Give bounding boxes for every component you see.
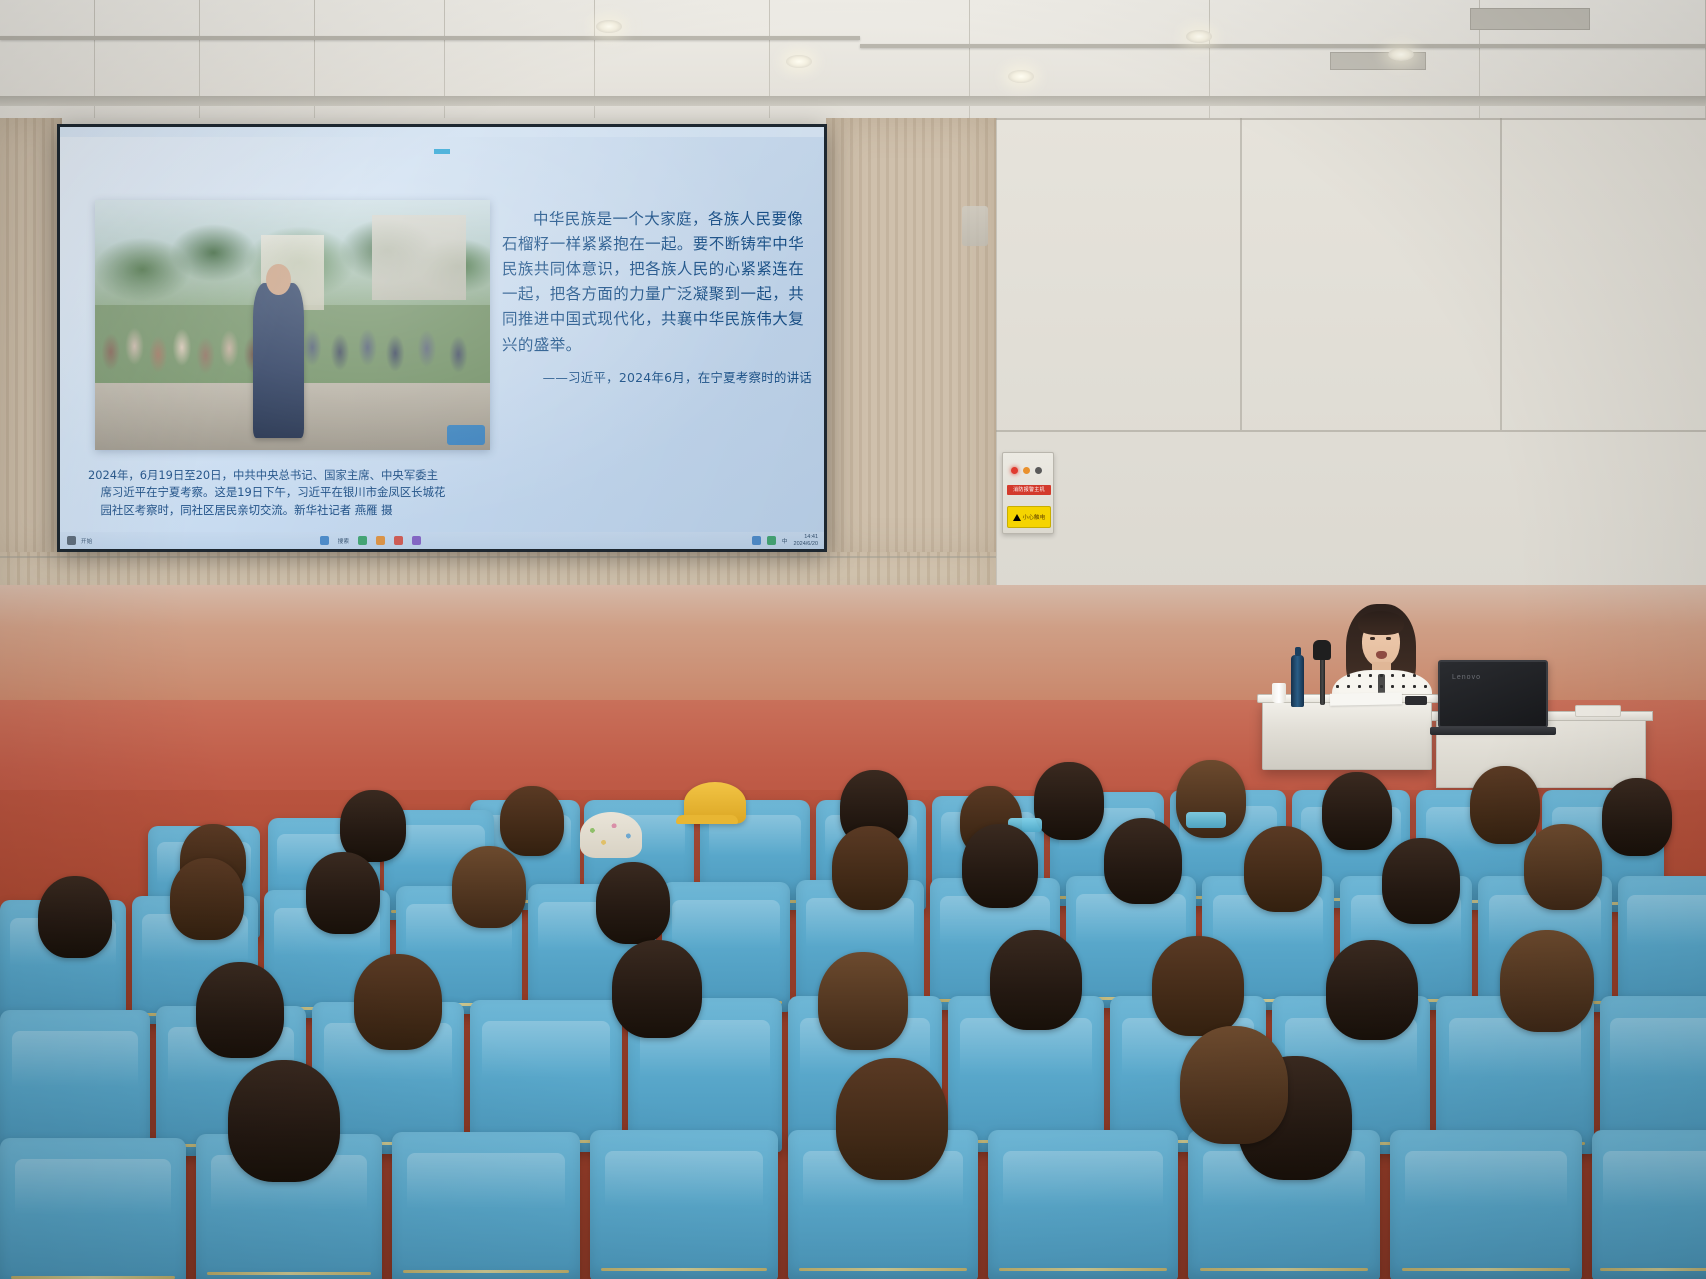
audience-head xyxy=(1326,940,1418,1040)
audience-head xyxy=(1382,838,1460,924)
water-bottle[interactable] xyxy=(1291,655,1304,707)
taskbar-clock[interactable]: 14:41 2024/6/20 xyxy=(794,534,818,548)
clock-date: 2024/6/20 xyxy=(794,541,818,547)
audience-head xyxy=(306,852,380,934)
presenter-mouth xyxy=(1376,651,1387,659)
status-led-orange xyxy=(1023,467,1030,474)
documents-on-podium[interactable] xyxy=(1330,692,1402,706)
yellow-cap xyxy=(684,782,746,824)
warning-label-text: 小心触电 xyxy=(1023,513,1046,521)
laptop-keyboard[interactable] xyxy=(1430,727,1556,735)
volume-icon[interactable] xyxy=(767,536,776,545)
projection-screen[interactable]: 中华民族是一个大家庭，各族人民要像石榴籽一样紧紧抱在一起。要不断铸牢中华民族共同… xyxy=(57,124,827,552)
audience-head xyxy=(818,952,908,1050)
clock-time: 14:41 xyxy=(804,534,818,540)
ceiling xyxy=(0,0,1706,120)
audience-head xyxy=(1322,772,1392,850)
seat[interactable] xyxy=(590,1130,778,1279)
caption-line-1: 2024年，6月19日至20日，中共中央总书记、国家主席、中央军委主 xyxy=(88,467,500,484)
lecture-hall-scene: 中华民族是一个大家庭，各族人民要像石榴籽一样紧紧抱在一起。要不断铸牢中华民族共同… xyxy=(0,0,1706,1279)
start-button-label[interactable]: 开始 xyxy=(81,537,92,545)
audience-head xyxy=(228,1060,340,1182)
start-button-icon[interactable] xyxy=(67,536,76,545)
seat[interactable] xyxy=(0,1138,186,1279)
laptop-screen[interactable]: Lenovo xyxy=(1438,660,1548,728)
power-led-red xyxy=(1011,467,1018,474)
audience-head xyxy=(990,930,1082,1030)
photo-badge xyxy=(447,425,485,445)
audience-head xyxy=(1034,762,1104,840)
photo-main-figure xyxy=(253,283,304,438)
blue-scarf xyxy=(1186,812,1226,828)
audience-head xyxy=(38,876,112,958)
right-wall-panel xyxy=(996,118,1706,588)
slide-accent-tick xyxy=(434,149,450,154)
quote-attribution: ——习近平，2024年6月，在宁夏考察时的讲话 xyxy=(502,368,812,388)
windows-taskbar[interactable]: 开始 搜索 中 14:41 2024/6/20 xyxy=(60,532,824,549)
document-icon[interactable] xyxy=(412,536,421,545)
ceiling-light xyxy=(1008,70,1034,83)
ceiling-light xyxy=(1388,48,1414,61)
wood-slat-wall-upper xyxy=(0,118,62,558)
floral-hat xyxy=(580,812,642,858)
seat[interactable] xyxy=(392,1132,580,1279)
audience-head xyxy=(1524,824,1602,910)
audience-head xyxy=(354,954,442,1050)
audience-head xyxy=(1602,778,1672,856)
slide-content: 中华民族是一个大家庭，各族人民要像石榴籽一样紧紧抱在一起。要不断铸牢中华民族共同… xyxy=(60,127,824,549)
audience-head xyxy=(596,862,670,944)
seat[interactable] xyxy=(1618,876,1706,1012)
seat[interactable] xyxy=(1390,1130,1582,1279)
presenter-eye-right xyxy=(1386,637,1391,640)
wood-slat-wall-right xyxy=(826,118,996,558)
media-player-icon[interactable] xyxy=(376,536,385,545)
alarm-label-text: 消防报警主机 xyxy=(1007,485,1051,495)
electric-shock-warning-sign: 小心触电 xyxy=(1007,506,1051,528)
table-items xyxy=(1575,705,1621,717)
audience-head xyxy=(170,858,244,940)
warning-triangle-icon xyxy=(1013,514,1021,521)
seat[interactable] xyxy=(988,1130,1178,1279)
caption-line-2: 席习近平在宁夏考察。这是19日下午，习近平在银川市金凤区长城花 xyxy=(88,484,500,501)
ceiling-light xyxy=(786,55,812,68)
audience-head xyxy=(452,846,526,928)
ceiling-light xyxy=(596,20,622,33)
slide-quote: 中华民族是一个大家庭，各族人民要像石榴籽一样紧紧抱在一起。要不断铸牢中华民族共同… xyxy=(502,207,812,388)
audience-head xyxy=(832,826,908,910)
fire-alarm-control-box[interactable]: 消防报警主机 小心触电 xyxy=(1002,452,1054,534)
standby-led-off xyxy=(1035,467,1042,474)
seat[interactable] xyxy=(1592,1130,1706,1279)
search-label[interactable]: 搜索 xyxy=(338,537,349,545)
audience-head xyxy=(612,940,702,1038)
wechat-icon[interactable] xyxy=(358,536,367,545)
audience-head xyxy=(1500,930,1594,1032)
podium[interactable] xyxy=(1262,700,1432,770)
slide-topbar xyxy=(60,127,824,137)
audience-head xyxy=(962,824,1038,908)
presenter-eye-left xyxy=(1370,637,1375,640)
audience-head xyxy=(1104,818,1182,904)
laptop-brand-label: Lenovo xyxy=(1452,674,1481,681)
alarm-label-strip: 消防报警主机 xyxy=(1007,485,1051,495)
audience-head xyxy=(1470,766,1540,844)
audience-head xyxy=(340,790,406,862)
network-icon[interactable] xyxy=(752,536,761,545)
presenter-fringe xyxy=(1358,611,1404,635)
ceiling-light xyxy=(1186,30,1212,43)
audience-head xyxy=(500,786,564,856)
microphone-icon[interactable] xyxy=(1313,640,1331,660)
audience-head xyxy=(196,962,284,1058)
file-explorer-icon[interactable] xyxy=(320,536,329,545)
audience-head xyxy=(836,1058,948,1180)
paper-cup[interactable] xyxy=(1272,683,1286,703)
caption-line-3: 园社区考察时，同社区居民亲切交流。新华社记者 燕雁 摄 xyxy=(88,502,500,519)
wall-speaker xyxy=(962,206,988,246)
audience-head xyxy=(1180,1026,1288,1144)
phone-on-podium[interactable] xyxy=(1405,696,1427,705)
audience-head xyxy=(1152,936,1244,1036)
ime-indicator[interactable]: 中 xyxy=(782,537,788,545)
slide-photo xyxy=(95,200,490,450)
slide-caption: 2024年，6月19日至20日，中共中央总书记、国家主席、中央军委主 席习近平在… xyxy=(88,467,500,519)
audience-head xyxy=(1244,826,1322,912)
quote-text: 中华民族是一个大家庭，各族人民要像石榴籽一样紧紧抱在一起。要不断铸牢中华民族共同… xyxy=(502,207,812,358)
powerpoint-icon[interactable] xyxy=(394,536,403,545)
